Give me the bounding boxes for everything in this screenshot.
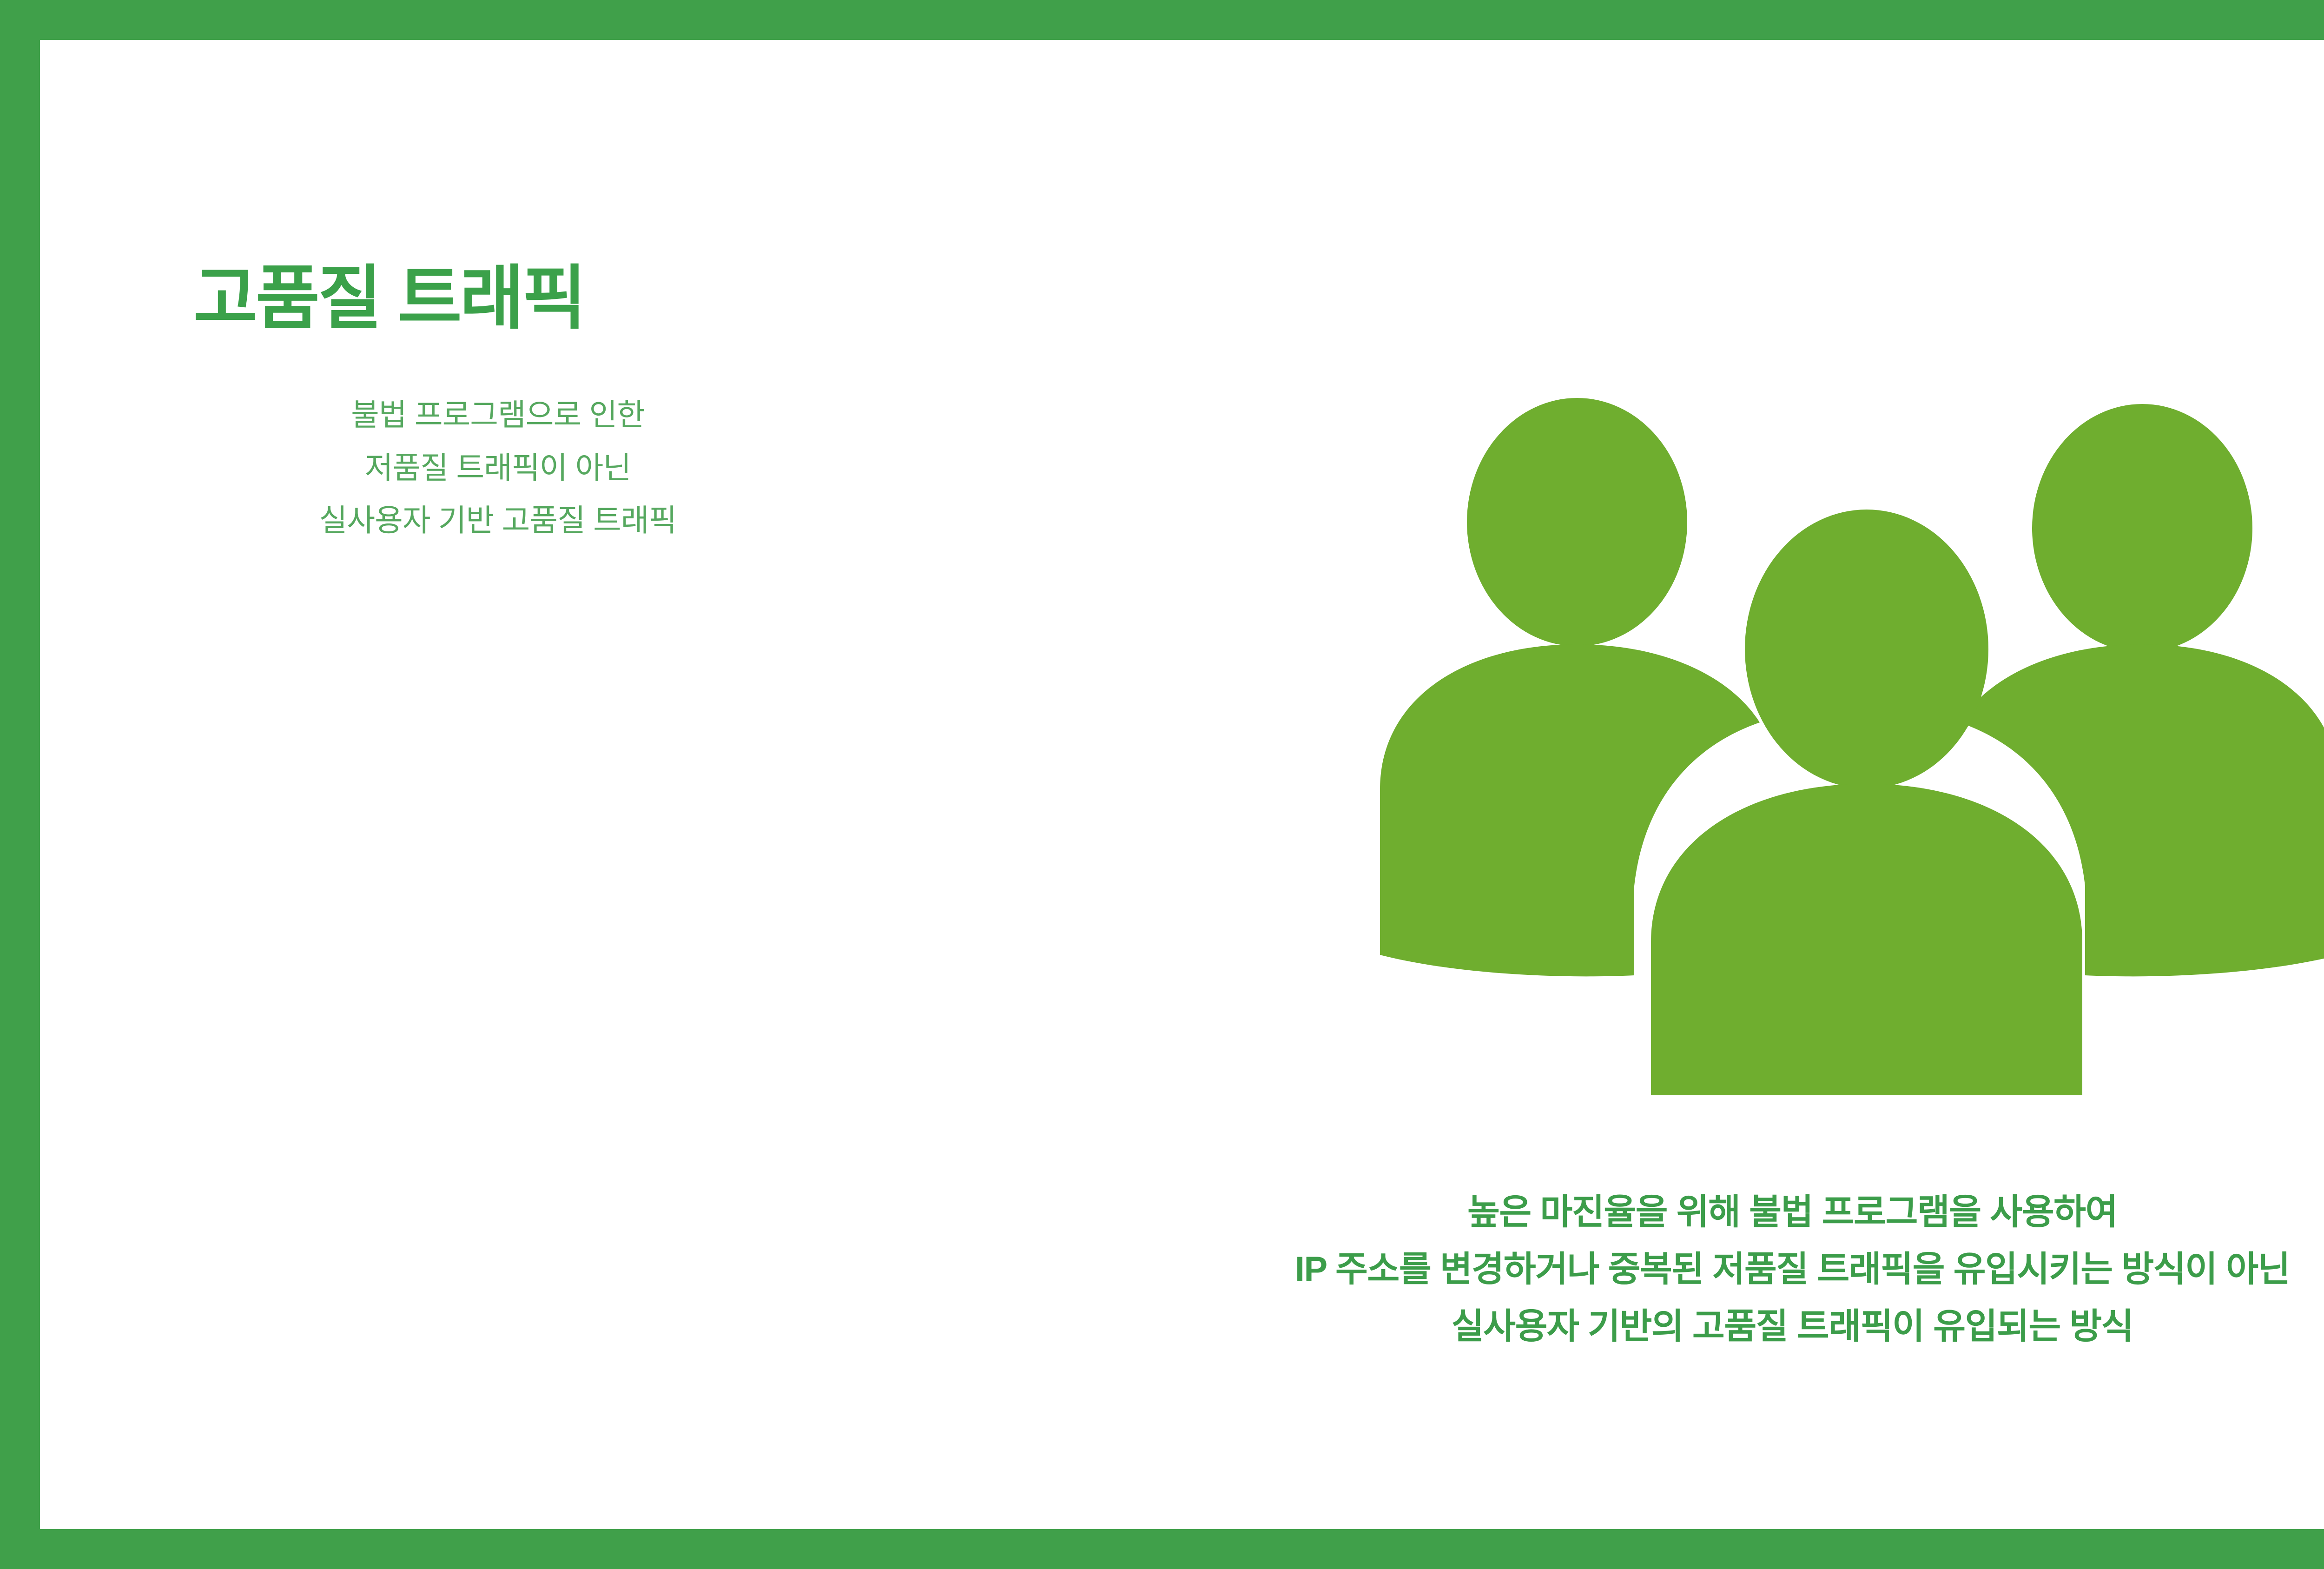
subtitle-line-3: 실사용자 기반 고품질 트래픽 — [193, 494, 802, 547]
slide-root: Do. Marketing 고품질 트래픽 불법 프로그램으로 인한 저품질 트… — [0, 0, 2324, 1569]
page-title: 고품질 트래픽 — [193, 263, 937, 333]
person-center-body — [1651, 784, 2082, 1095]
subtitle-line-1: 불법 프로그램으로 인한 — [193, 389, 802, 442]
group-of-people-svg — [1337, 365, 2324, 1095]
bottom-copy-line-2: IP 주소를 변경하거나 중복된 저품질 트래픽을 유입시키는 방식이 아닌 — [839, 1241, 2324, 1298]
subtitle-line-2: 저품질 트래픽이 아닌 — [193, 442, 802, 495]
bottom-copy-line-1: 높은 마진율을 위해 불법 프로그램을 사용하여 — [839, 1184, 2324, 1241]
subtitle-block: 불법 프로그램으로 인한 저품질 트래픽이 아닌 실사용자 기반 고품질 트래픽 — [193, 389, 802, 547]
left-column: 고품질 트래픽 불법 프로그램으로 인한 저품질 트래픽이 아닌 실사용자 기반… — [193, 263, 937, 547]
person-right-head — [2032, 404, 2252, 652]
group-of-people-icon — [1337, 365, 2324, 1095]
person-center-head — [1745, 510, 1988, 788]
slide-canvas: Do. Marketing 고품질 트래픽 불법 프로그램으로 인한 저품질 트… — [40, 40, 2324, 1529]
bottom-copy-line-3: 실사용자 기반의 고품질 트래픽이 유입되는 방식 — [839, 1298, 2324, 1355]
person-left-head — [1467, 398, 1687, 646]
bottom-copy-block: 높은 마진율을 위해 불법 프로그램을 사용하여 IP 주소를 변경하거나 중복… — [839, 1184, 2324, 1355]
